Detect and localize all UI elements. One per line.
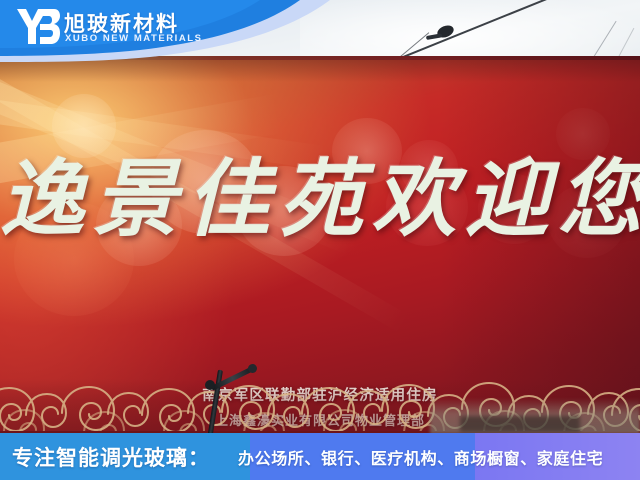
yb-monogram-icon xyxy=(16,6,60,48)
ground-shadow xyxy=(460,416,580,432)
logo-company-name-en: XUBO NEW MATERIALS xyxy=(65,33,203,44)
billboard-panel: 逸景佳苑欢迎您 南京军区联勤部驻沪经济适用住房 上海鑫濠实业有限公司物业管理部 xyxy=(0,56,640,431)
billboard-headline: 逸景佳苑欢迎您 xyxy=(0,156,640,247)
bottom-promo-banner: 专注智能调光玻璃： 办公场所、银行、医疗机构、商场橱窗、家庭住宅 xyxy=(0,433,640,480)
banner-applications-text: 办公场所、银行、医疗机构、商场橱窗、家庭住宅 xyxy=(238,433,603,480)
pole-knob-icon xyxy=(205,380,215,390)
screenshot-root: 逸景佳苑欢迎您 南京军区联勤部驻沪经济适用住房 上海鑫濠实业有限公司物业管理部 xyxy=(0,0,640,480)
bokeh-circle xyxy=(52,94,116,158)
pole-tip-icon xyxy=(248,364,257,373)
banner-headline-text: 专注智能调光玻璃： xyxy=(12,433,210,480)
